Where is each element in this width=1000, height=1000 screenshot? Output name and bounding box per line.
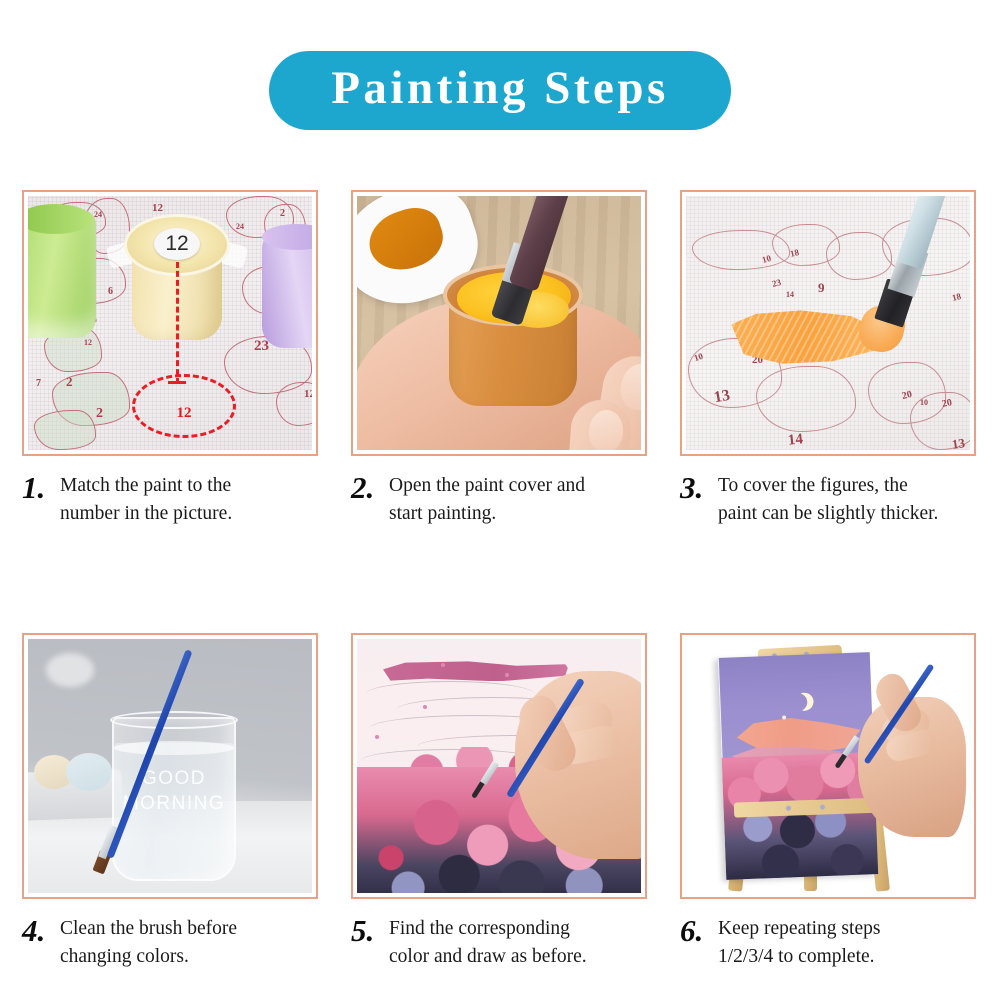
step-4-caption: 4. Clean the brush beforechanging colors… [22, 913, 318, 970]
canvas-number: 20 [941, 397, 953, 410]
canvas-number: 2 [66, 374, 73, 390]
red-dashed-pointer-line [176, 262, 179, 384]
canvas-number: 12 [84, 338, 92, 347]
step-4-number: 4. [22, 913, 52, 946]
step-6-text: Keep repeating steps1/2/3/4 to complete. [710, 913, 880, 970]
step-2-number: 2. [351, 470, 381, 503]
canvas-shape-outline [756, 366, 856, 432]
canvas-number: 12 [304, 388, 312, 400]
step-2-text-line-2: start painting. [389, 503, 496, 524]
purple-paint-pot [262, 232, 312, 348]
open-paint-pot-photo [357, 196, 641, 450]
screw [820, 805, 825, 810]
partly-painted-sakura-canvas-photo [357, 639, 641, 893]
pot-number-badge: 12 [154, 228, 200, 260]
step-card-5: 5. Find the correspondingcolor and draw … [351, 633, 647, 970]
step-1-text: Match the paint to thenumber in the pict… [52, 470, 232, 527]
canvas-number: 6 [108, 286, 113, 297]
step-6-text-line-1: Keep repeating steps [718, 918, 880, 939]
brush-stroke-on-canvas-photo: 10 18 23 14 9 20 18 13 10 20 13 14 20 10… [686, 196, 970, 450]
step-3-text-line-2: paint can be slightly thicker. [718, 503, 938, 524]
step-4-text-line-1: Clean the brush before [60, 918, 237, 939]
step-2-text-line-1: Open the paint cover and [389, 475, 585, 496]
glass-text-line-1: GOOD [142, 768, 206, 789]
step-card-6: 6. Keep repeating steps1/2/3/4 to comple… [680, 633, 976, 970]
canvas-number: 13 [713, 387, 732, 408]
canvas-number: 14 [786, 290, 794, 299]
step-4-text-line-2: changing colors. [60, 946, 189, 967]
canvas-number: 12 [152, 202, 163, 214]
green-paint-pot [28, 210, 96, 338]
step-2-photo-frame [351, 190, 647, 456]
canvas-number: 24 [94, 210, 102, 219]
step-4-photo-frame: GOODMORNING [22, 633, 318, 899]
steps-grid: 12 24 2 24 7 6 5 12 2 7 2 23 24 23 12 [22, 190, 978, 971]
step-6-number: 6. [680, 913, 710, 946]
page-title: Painting Steps [331, 65, 669, 112]
step-5-photo-frame [351, 633, 647, 899]
step-3-text: To cover the figures, thepaint can be sl… [710, 470, 938, 527]
step-card-2: 2. Open the paint cover andstart paintin… [351, 190, 647, 527]
step-card-4: GOODMORNING 4. Clean the brush beforecha… [22, 633, 318, 970]
canvas-number: 7 [36, 378, 41, 389]
canvas-number: 14 [787, 431, 804, 449]
step-3-text-line-1: To cover the figures, the [718, 475, 908, 496]
red-dashed-target-circle: 12 [132, 374, 236, 438]
step-1-text-line-2: number in the picture. [60, 503, 232, 524]
steps-row-2: GOODMORNING 4. Clean the brush beforecha… [22, 633, 978, 970]
step-5-text-line-2: color and draw as before. [389, 946, 587, 967]
paint-pot-match-number-photo: 12 24 2 24 7 6 5 12 2 7 2 23 24 23 12 [28, 196, 312, 450]
step-5-text-line-1: Find the corresponding [389, 918, 570, 939]
step-2-text: Open the paint cover andstart painting. [381, 470, 585, 527]
target-number-label: 12 [135, 405, 233, 422]
step-3-number: 3. [680, 470, 710, 503]
glass-text-line-2: MORNING [123, 793, 225, 814]
step-6-text-line-2: 1/2/3/4 to complete. [718, 946, 875, 967]
finished-painting-on-easel-photo [686, 639, 970, 893]
canvas-number: 2 [280, 208, 285, 219]
crescent-moon [794, 691, 816, 713]
step-5-number: 5. [351, 913, 381, 946]
canvas-number: 13 [951, 435, 966, 450]
canvas-number: 24 [236, 222, 244, 231]
step-5-text: Find the correspondingcolor and draw as … [381, 913, 587, 970]
step-5-caption: 5. Find the correspondingcolor and draw … [351, 913, 647, 970]
step-6-caption: 6. Keep repeating steps1/2/3/4 to comple… [680, 913, 976, 970]
step-1-caption: 1. Match the paint to thenumber in the p… [22, 470, 318, 527]
canvas-number: 2 [96, 406, 103, 422]
step-card-1: 12 24 2 24 7 6 5 12 2 7 2 23 24 23 12 [22, 190, 318, 527]
step-1-number: 1. [22, 470, 52, 503]
finished-canvas [718, 653, 878, 881]
canvas-leaf-shape [34, 410, 96, 450]
rinse-brush-in-glass-photo: GOODMORNING [28, 639, 312, 893]
step-card-3: 10 18 23 14 9 20 18 13 10 20 13 14 20 10… [680, 190, 976, 527]
canvas-number: 18 [789, 247, 800, 259]
step-4-text: Clean the brush beforechanging colors. [52, 913, 237, 970]
step-6-photo-frame [680, 633, 976, 899]
step-1-text-line-1: Match the paint to the [60, 475, 231, 496]
screw [786, 806, 791, 811]
canvas-number: 9 [818, 280, 825, 296]
step-2-caption: 2. Open the paint cover andstart paintin… [351, 470, 647, 527]
page-header: Painting Steps [0, 0, 1000, 180]
step-1-photo-frame: 12 24 2 24 7 6 5 12 2 7 2 23 24 23 12 [22, 190, 318, 456]
step-3-photo-frame: 10 18 23 14 9 20 18 13 10 20 13 14 20 10… [680, 190, 976, 456]
steps-row-1: 12 24 2 24 7 6 5 12 2 7 2 23 24 23 12 [22, 190, 978, 527]
canvas-number: 10 [920, 398, 928, 407]
title-pill: Painting Steps [269, 51, 731, 130]
step-3-caption: 3. To cover the figures, thepaint can be… [680, 470, 976, 527]
background-blur-object [46, 653, 94, 687]
